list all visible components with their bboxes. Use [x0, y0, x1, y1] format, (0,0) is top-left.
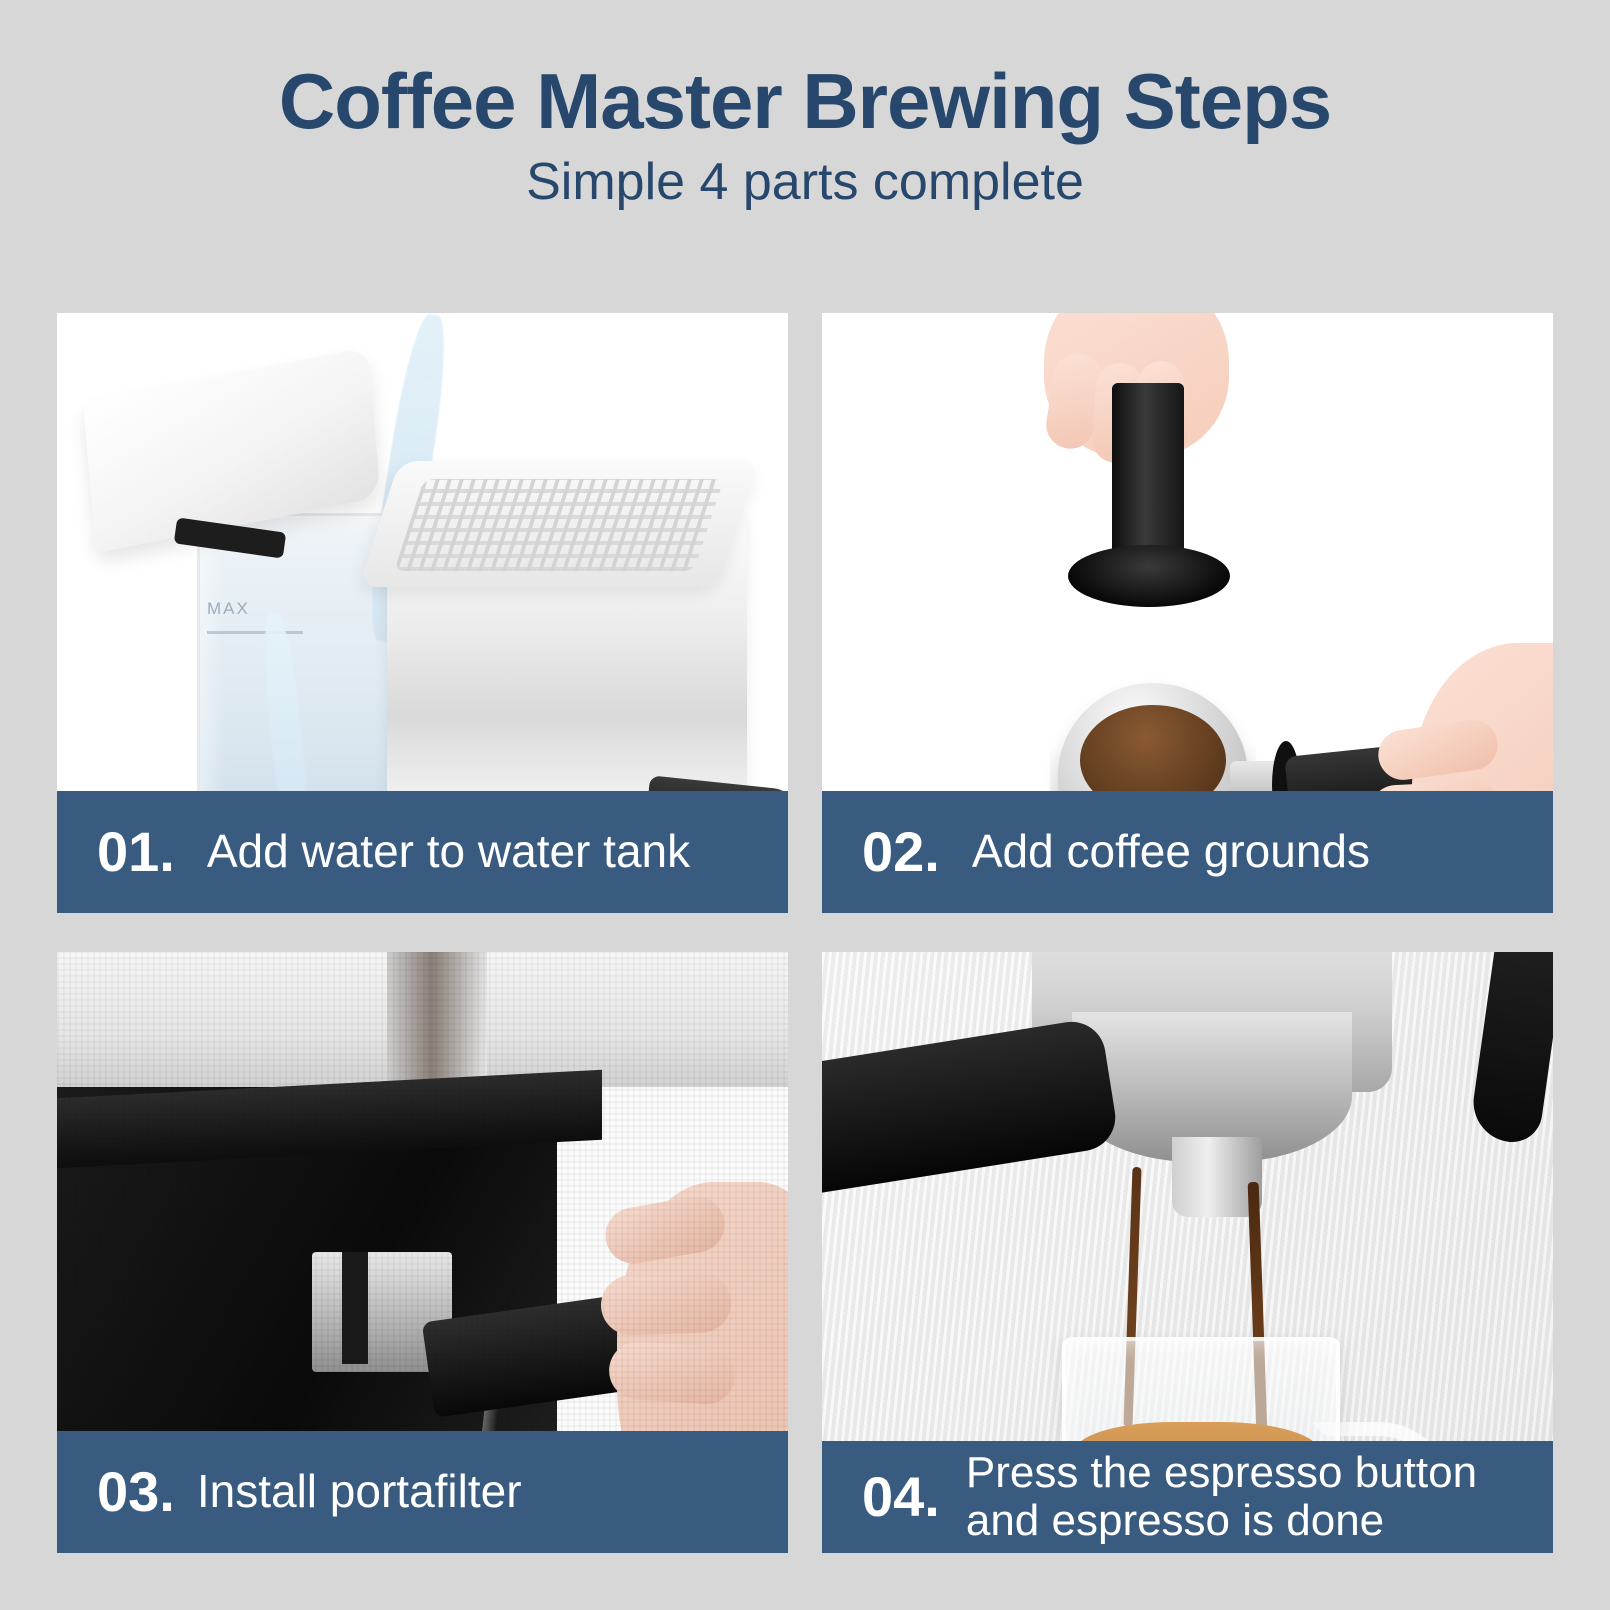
tank-max-label: MAX [207, 599, 250, 619]
finger-icon [607, 1340, 737, 1407]
step-label-03: Install portafilter [197, 1467, 522, 1517]
step-caption-03: 03. Install portafilter [57, 1431, 788, 1553]
machine-column [387, 952, 487, 1092]
step-label-04-line2: and espresso is done [966, 1497, 1477, 1545]
tamper-base-icon [1068, 545, 1230, 607]
step-label-04-line1: Press the espresso button [966, 1448, 1477, 1497]
step-label-01: Add water to water tank [207, 827, 690, 877]
step-card-04[interactable]: 04. Press the espresso button and espres… [822, 952, 1553, 1553]
step-caption-02: 02. Add coffee grounds [822, 791, 1553, 913]
step-number-02: 02. [862, 824, 940, 880]
step-number-04: 04. [862, 1469, 940, 1525]
page-title: Coffee Master Brewing Steps [0, 62, 1610, 140]
cup-warming-grate-icon [394, 479, 724, 571]
step-label-04: Press the espresso button and espresso i… [966, 1449, 1477, 1544]
steps-grid: MAX 01. Add water to water tank [57, 313, 1553, 1553]
step-label-02: Add coffee grounds [972, 827, 1370, 877]
finger-icon [600, 1272, 732, 1337]
step-number-01: 01. [97, 824, 175, 880]
page-subtitle: Simple 4 parts complete [0, 156, 1610, 208]
step-caption-01: 01. Add water to water tank [57, 791, 788, 913]
step-card-03[interactable]: 03. Install portafilter [57, 952, 788, 1553]
step-card-02[interactable]: 02. Add coffee grounds [822, 313, 1553, 913]
step-card-01[interactable]: MAX 01. Add water to water tank [57, 313, 788, 913]
tamper-handle-icon [1112, 383, 1184, 563]
step-number-03: 03. [97, 1464, 175, 1520]
page-header: Coffee Master Brewing Steps Simple 4 par… [0, 0, 1610, 208]
step-caption-04: 04. Press the espresso button and espres… [822, 1441, 1553, 1553]
tank-max-line [207, 631, 303, 634]
group-head-shadow [342, 1252, 368, 1364]
